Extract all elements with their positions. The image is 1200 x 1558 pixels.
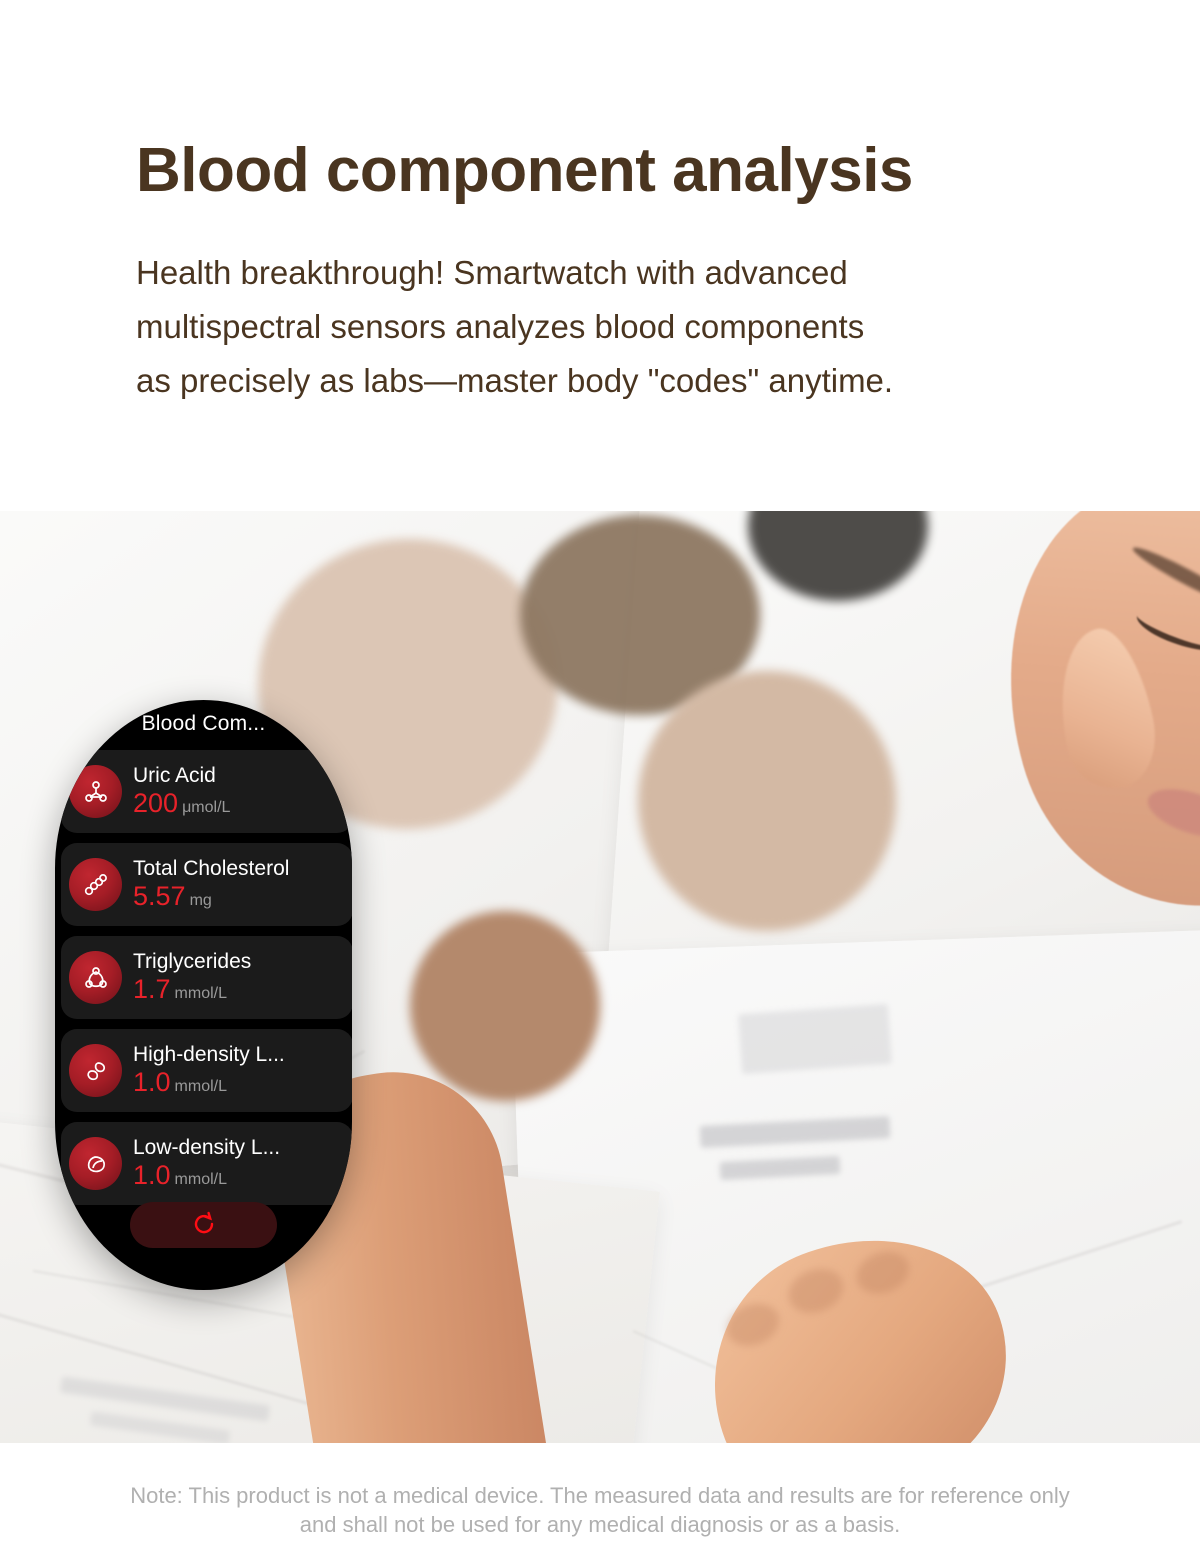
metric-value-line: 200 μmol/L — [133, 789, 352, 817]
metric-row-uric-acid[interactable]: Uric Acid 200 μmol/L — [61, 750, 352, 833]
metric-row-total-cholesterol[interactable]: Total Cholesterol 5.57 mg — [61, 843, 352, 926]
panel-title: Blood Com... — [55, 712, 352, 736]
metric-label: Uric Acid — [133, 765, 352, 788]
disclaimer-note: Note: This product is not a medical devi… — [120, 1481, 1080, 1539]
metric-value: 1.7 — [133, 975, 171, 1003]
metric-value: 1.0 — [133, 1068, 171, 1096]
product-feature-page: Blood component analysis Health breakthr… — [0, 0, 1200, 1558]
metric-value: 1.0 — [133, 1161, 171, 1189]
color-swatch — [638, 671, 896, 931]
metric-label: Triglycerides — [133, 951, 352, 974]
subcopy-line-2: multispectral sensors analyzes blood com… — [136, 300, 1036, 354]
header-section: Blood component analysis Health breakthr… — [0, 0, 1200, 511]
metric-value-line: 1.0 mmol/L — [133, 1068, 352, 1096]
blood-composition-panel: Blood Com... Uric Acid — [55, 700, 352, 1290]
print-mark — [738, 1004, 892, 1074]
triglycerides-ring-icon — [69, 951, 122, 1004]
metric-label: High-density L... — [133, 1044, 352, 1067]
metric-unit: μmol/L — [182, 800, 230, 817]
metric-row-low-density-lipoprotein[interactable]: Low-density L... 1.0 mmol/L — [61, 1122, 352, 1205]
metric-text: Uric Acid 200 μmol/L — [133, 765, 352, 817]
metric-row-triglycerides[interactable]: Triglycerides 1.7 mmol/L — [61, 936, 352, 1019]
metric-value-line: 1.0 mmol/L — [133, 1161, 352, 1189]
metric-row-high-density-lipoprotein[interactable]: High-density L... 1.0 mmol/L — [61, 1029, 352, 1112]
color-swatch — [410, 911, 600, 1101]
metrics-list: Uric Acid 200 μmol/L — [61, 750, 352, 1215]
metric-text: Total Cholesterol 5.57 mg — [133, 858, 352, 910]
page-subcopy: Health breakthrough! Smartwatch with adv… — [136, 246, 1036, 407]
refresh-measurement-button[interactable] — [130, 1202, 277, 1248]
uric-acid-molecule-icon — [69, 765, 122, 818]
metric-value-line: 1.7 mmol/L — [133, 975, 352, 1003]
metric-unit: mmol/L — [175, 986, 227, 1003]
ldl-cell-icon — [69, 1137, 122, 1190]
metric-unit: mg — [190, 893, 212, 910]
metric-value: 200 — [133, 789, 178, 817]
metric-unit: mmol/L — [175, 1172, 227, 1189]
hdl-droplets-icon — [69, 1044, 122, 1097]
page-title: Blood component analysis — [136, 140, 1200, 202]
refresh-row — [55, 1202, 352, 1248]
subcopy-line-1: Health breakthrough! Smartwatch with adv… — [136, 246, 1036, 300]
subcopy-line-3: as precisely as labs—master body "codes"… — [136, 354, 1036, 408]
refresh-circular-arrow-icon — [189, 1209, 219, 1242]
footer-section: Note: This product is not a medical devi… — [0, 1443, 1200, 1558]
metric-label: Low-density L... — [133, 1137, 352, 1160]
metric-unit: mmol/L — [175, 1079, 227, 1096]
cholesterol-chain-icon — [69, 858, 122, 911]
metric-label: Total Cholesterol — [133, 858, 352, 881]
metric-text: Triglycerides 1.7 mmol/L — [133, 951, 352, 1003]
metric-text: Low-density L... 1.0 mmol/L — [133, 1137, 352, 1189]
metric-value: 5.57 — [133, 882, 186, 910]
metric-value-line: 5.57 mg — [133, 882, 352, 910]
metric-text: High-density L... 1.0 mmol/L — [133, 1044, 352, 1096]
